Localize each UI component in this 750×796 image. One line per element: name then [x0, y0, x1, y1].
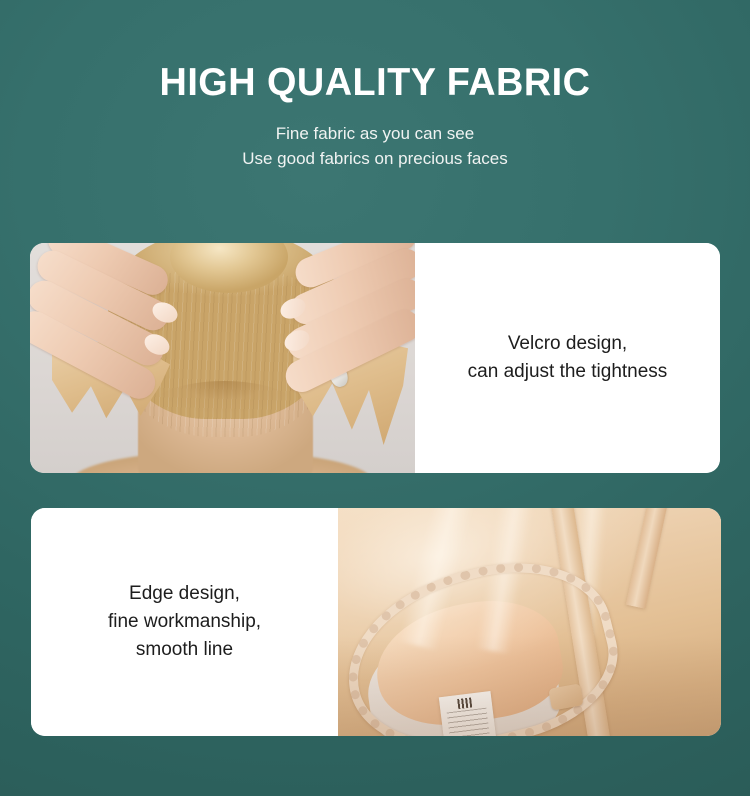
page-title: HIGH QUALITY FABRIC — [11, 60, 739, 106]
header: HIGH QUALITY FABRIC Fine fabric as you c… — [0, 0, 750, 171]
fabric-edge-binding-closeup-photo — [338, 508, 721, 736]
feature-card-edge: Edge design, fine workmanship, smooth li… — [31, 508, 721, 736]
edge-caption-panel: Edge design, fine workmanship, smooth li… — [31, 508, 338, 736]
left-hand — [30, 243, 186, 399]
back-of-head-with-strap-photo — [30, 243, 415, 473]
subtitle-line-1: Fine fabric as you can see — [0, 121, 750, 146]
edge-caption-line-2: fine workmanship, — [108, 608, 261, 636]
velcro-caption-line-1: Velcro design, — [468, 330, 668, 358]
edge-caption: Edge design, fine workmanship, smooth li… — [94, 580, 275, 664]
subtitle: Fine fabric as you can see Use good fabr… — [0, 121, 750, 171]
edge-caption-line-1: Edge design, — [108, 580, 261, 608]
right-hand — [282, 243, 415, 395]
edge-caption-line-3: smooth line — [108, 636, 261, 664]
promo-banner: HIGH QUALITY FABRIC Fine fabric as you c… — [0, 0, 750, 796]
fabric-bottom-shadow — [338, 636, 721, 736]
velcro-caption-panel: Velcro design, can adjust the tightness — [415, 243, 720, 473]
feature-card-velcro: Velcro design, can adjust the tightness — [30, 243, 720, 473]
velcro-caption-line-2: can adjust the tightness — [468, 358, 668, 386]
velcro-caption: Velcro design, can adjust the tightness — [454, 330, 682, 386]
subtitle-line-2: Use good fabrics on precious faces — [0, 146, 750, 171]
